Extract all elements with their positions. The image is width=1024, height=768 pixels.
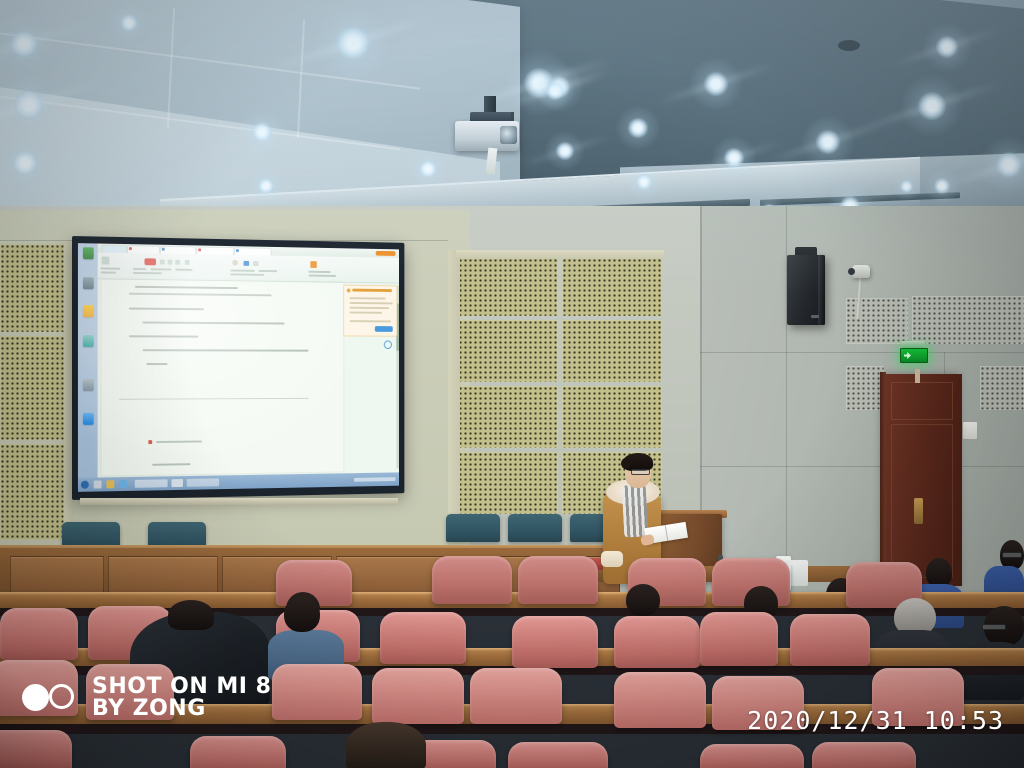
document-text-line: [152, 463, 190, 466]
door-frame: [880, 372, 886, 588]
presenter-glasses-icon: [631, 469, 650, 475]
attendee-glasses-icon: [1002, 552, 1022, 558]
audience-seat[interactable]: [0, 730, 72, 768]
attendee-head: [284, 596, 320, 632]
italic-icon[interactable]: [168, 260, 173, 265]
photograph: SHOT ON MI 8 BY ZONG 2020/12/31 10:53: [0, 0, 1024, 768]
floating-help-icon[interactable]: [384, 340, 392, 349]
ribbon-label: [175, 269, 192, 271]
camera-lens-icon: [848, 268, 855, 275]
ribbon-group-styles[interactable]: [309, 260, 351, 278]
wall-speaker-icon: [787, 255, 825, 325]
ribbon-toolbar: [98, 252, 399, 283]
ribbon-label: [230, 269, 254, 271]
ribbon-label: [133, 272, 162, 274]
bold-icon[interactable]: [160, 260, 165, 265]
warning-icon: [347, 288, 351, 292]
styles-icon[interactable]: [310, 261, 316, 268]
audience-seat[interactable]: [0, 660, 78, 716]
document-text-line: [146, 363, 167, 365]
line-spacing-icon[interactable]: [253, 261, 259, 266]
audience-seat[interactable]: [470, 668, 562, 724]
panel-action-button[interactable]: [375, 326, 393, 332]
tab-icon: [162, 248, 165, 251]
desktop-icon-shield[interactable]: [83, 277, 94, 289]
audience-seat[interactable]: [790, 614, 870, 666]
audience-seat[interactable]: [380, 612, 466, 664]
audience-seat[interactable]: [432, 556, 512, 604]
audience-seat[interactable]: [700, 744, 804, 768]
audience-seat[interactable]: [614, 616, 700, 668]
light-switch[interactable]: [962, 421, 978, 440]
document-text-line: [143, 322, 285, 325]
ribbon-group-clipboard[interactable]: [100, 256, 127, 274]
audience-seat[interactable]: [812, 742, 916, 768]
audience-seat[interactable]: [0, 608, 78, 660]
audience-seat[interactable]: [712, 676, 804, 730]
audience-seat[interactable]: [272, 664, 362, 720]
desktop-icon-antivirus[interactable]: [83, 335, 94, 347]
attendee-glasses-icon: [982, 624, 1006, 630]
door-handle-icon[interactable]: [914, 498, 923, 524]
tab-icon: [236, 249, 239, 252]
desktop-taskbar: [78, 472, 399, 492]
document-text-line: [129, 293, 272, 297]
perforated-acoustic-panel: [846, 366, 884, 410]
audience-seat[interactable]: [518, 556, 598, 604]
taskbar-icon-explorer[interactable]: [106, 480, 114, 488]
audience-seat[interactable]: [508, 742, 608, 768]
ribbon-label: [309, 275, 336, 277]
perforated-acoustic-panel: [562, 386, 662, 448]
wall-trim: [456, 250, 664, 259]
exit-sign-icon: [900, 348, 928, 363]
side-exit-door[interactable]: [884, 374, 962, 586]
panel-text-line: [350, 297, 386, 299]
taskbar-window-button[interactable]: [135, 479, 168, 488]
taskbar-icon-office[interactable]: [171, 479, 182, 487]
desktop-icon-column: [78, 243, 98, 478]
wall-joint-line: [700, 352, 1024, 353]
stage-chair[interactable]: [508, 514, 562, 542]
audience-seat[interactable]: [86, 664, 174, 720]
desktop-icon-folder[interactable]: [83, 305, 94, 317]
perforated-acoustic-panel: [458, 386, 558, 448]
audience-seat[interactable]: [372, 668, 464, 724]
door-panel-top: [891, 382, 953, 420]
panel-text-line: [350, 302, 393, 304]
paste-icon[interactable]: [102, 257, 110, 265]
desktop-icon-green[interactable]: [83, 247, 94, 259]
audience-seat[interactable]: [872, 668, 964, 726]
attendee-head: [626, 584, 660, 616]
bullet-list-icon[interactable]: [232, 260, 238, 266]
taskbar-window-button[interactable]: [187, 478, 219, 486]
ribbon-label: [133, 268, 147, 270]
perforated-acoustic-panel: [0, 336, 64, 440]
panel-text-line: [350, 307, 390, 309]
font-color-icon[interactable]: [144, 258, 156, 265]
screen-bottom-shelf: [80, 498, 398, 505]
audience-seat[interactable]: [190, 736, 286, 768]
attendee-bowed-head: [346, 722, 426, 768]
audience-seat[interactable]: [700, 612, 778, 666]
underline-icon[interactable]: [175, 260, 180, 265]
document-page: [102, 279, 344, 475]
perforated-acoustic-panel: [458, 320, 558, 382]
security-camera-icon: [852, 265, 870, 278]
taskbar-icon-browser[interactable]: [119, 480, 127, 488]
ribbon-group-font[interactable]: [131, 257, 223, 276]
perforated-acoustic-panel: [846, 298, 908, 344]
document-page-break: [119, 398, 308, 400]
sanitizer-arm: [786, 560, 800, 565]
document-text-line: [129, 335, 198, 338]
wall-joint-line: [700, 466, 1024, 467]
document-text-line: [156, 440, 202, 443]
start-button[interactable]: [81, 481, 89, 489]
taskbar-icon-search[interactable]: [94, 480, 102, 488]
perforated-acoustic-panel: [0, 244, 64, 332]
notice-side-panel[interactable]: [343, 285, 397, 337]
tab-icon: [198, 248, 201, 251]
ribbon-label: [150, 268, 171, 270]
upgrade-button[interactable]: [376, 251, 396, 256]
align-icon[interactable]: [244, 261, 250, 266]
perforated-acoustic-panel: [980, 366, 1024, 410]
desktop-icon-drive[interactable]: [83, 379, 94, 391]
perforated-acoustic-panel: [458, 258, 558, 316]
presenter-coat-cuff: [601, 551, 623, 567]
document-text-line: [143, 349, 309, 352]
panel-text-line: [350, 312, 382, 314]
ribbon-label: [101, 267, 121, 269]
ribbon-label: [309, 271, 331, 273]
projected-desktop: [78, 243, 399, 492]
system-tray[interactable]: [354, 477, 395, 482]
stage-chair[interactable]: [446, 514, 500, 542]
document-text-line: [135, 286, 238, 290]
perforated-acoustic-panel: [0, 444, 64, 540]
projection-surface: [78, 243, 399, 492]
presenter-hair-bun: [621, 458, 631, 469]
tab-icon: [129, 247, 132, 250]
speaker-badge: [811, 315, 819, 318]
perforated-acoustic-panel: [912, 296, 1024, 344]
door-latch-strip: [915, 369, 920, 383]
desktop-icon-browser[interactable]: [83, 413, 94, 425]
ribbon-label: [230, 273, 264, 275]
perforated-acoustic-panel: [562, 320, 662, 382]
projector-lens-icon: [500, 126, 517, 144]
attendee-head: [168, 600, 214, 630]
panel-text-line: [350, 320, 391, 322]
panel-title: [352, 289, 392, 292]
document-text-line: [129, 308, 204, 311]
speaker-edge: [818, 255, 825, 325]
revision-marker-icon: [148, 440, 152, 444]
wall-pilaster: [448, 250, 460, 536]
highlight-icon[interactable]: [185, 260, 190, 265]
ceiling-vent: [838, 40, 860, 51]
projection-screen[interactable]: [72, 236, 404, 500]
ribbon-group-paragraph[interactable]: [229, 259, 303, 278]
desk-shadow: [0, 724, 1024, 734]
audience-seat[interactable]: [512, 616, 598, 668]
exit-sign-housing: [901, 341, 925, 348]
perforated-acoustic-panel: [562, 258, 662, 316]
ribbon-label: [259, 270, 278, 272]
exit-arrow-icon: [904, 352, 911, 359]
perforated-acoustic-panel: [458, 452, 558, 514]
audience-seat[interactable]: [614, 672, 706, 728]
ribbon-label: [101, 271, 117, 273]
